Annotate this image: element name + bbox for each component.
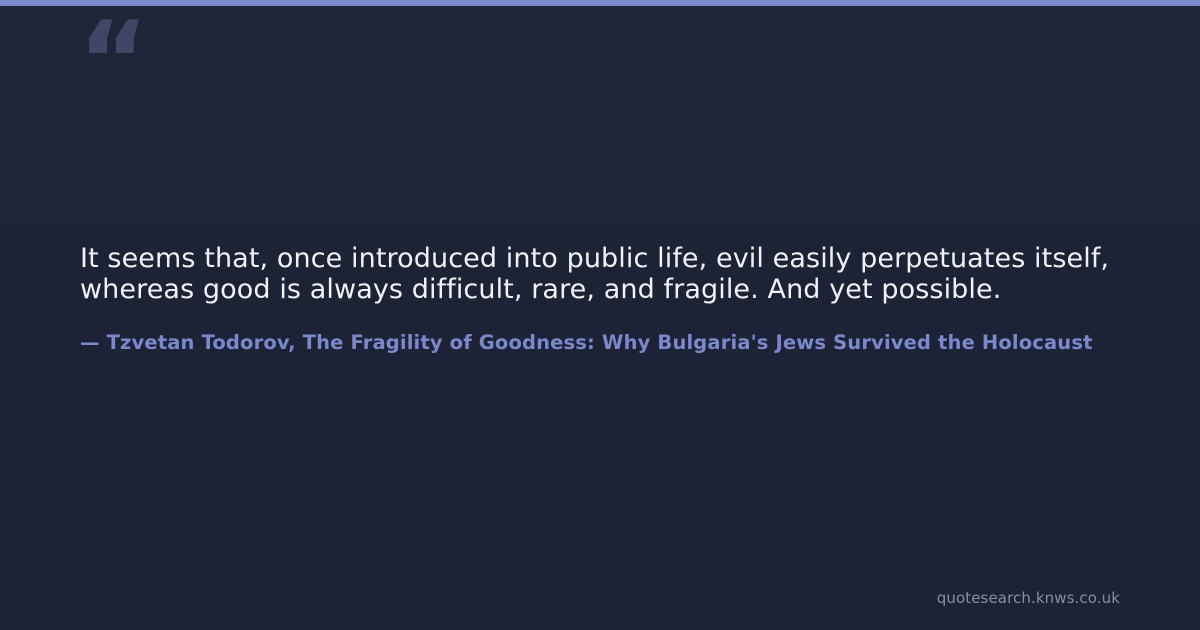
quote-line-1: It seems that, once introduced into publ… — [80, 243, 1200, 274]
quote-content: It seems that, once introduced into publ… — [80, 243, 1200, 355]
open-quote-icon: “ — [78, 8, 149, 116]
quote-text: It seems that, once introduced into publ… — [80, 243, 1200, 305]
quote-line-2: whereas good is always difficult, rare, … — [80, 274, 1200, 305]
quote-attribution: — Tzvetan Todorov, The Fragility of Good… — [80, 305, 1200, 355]
top-accent-bar — [0, 0, 1200, 6]
source-site-label: quotesearch.knws.co.uk — [937, 588, 1120, 608]
quote-card: “ It seems that, once introduced into pu… — [0, 0, 1200, 630]
